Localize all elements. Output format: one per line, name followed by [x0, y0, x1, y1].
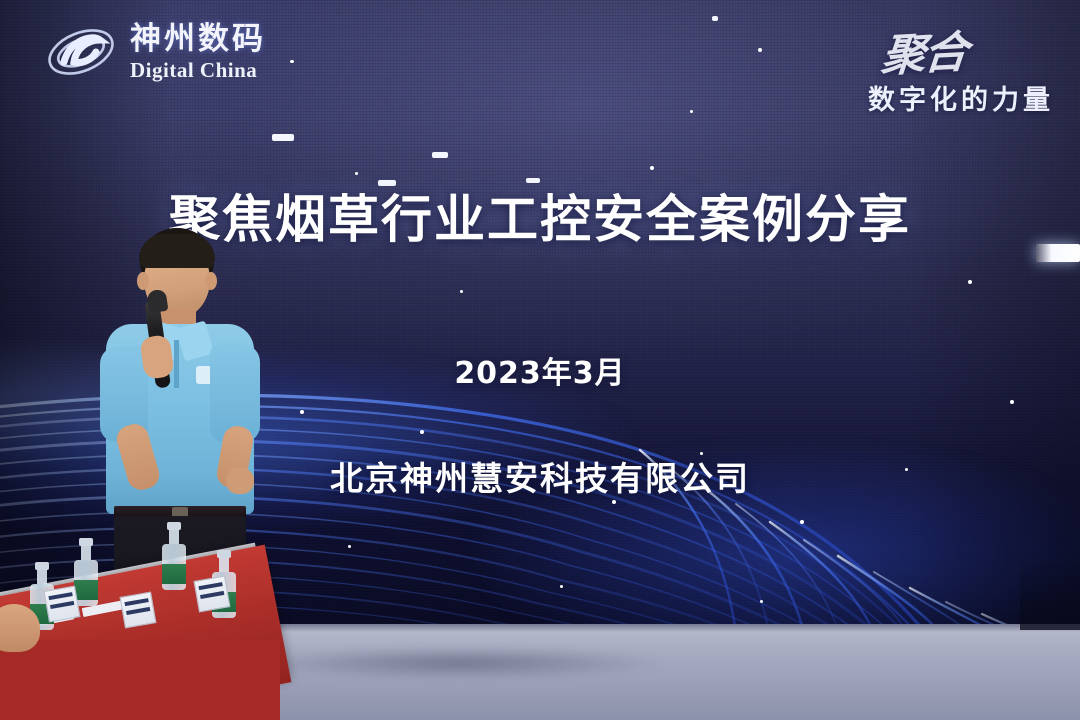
water-bottle [74, 536, 98, 606]
particle-dash [432, 152, 448, 158]
particle-dot [968, 280, 972, 284]
motto-calligraphy: 聚合 [879, 16, 969, 84]
bottle-cap [167, 522, 181, 530]
speaker-placket [174, 340, 179, 388]
particle-dot [290, 60, 294, 63]
floor-shadow [250, 646, 670, 680]
name-card [193, 575, 230, 612]
particle-dot [460, 290, 463, 293]
name-card-line [48, 592, 72, 600]
particle-dot [560, 585, 563, 588]
particle-dot [1010, 400, 1014, 404]
particle-dot [758, 48, 762, 52]
speaker-hair-front [139, 234, 215, 268]
particle-dash [712, 16, 718, 21]
name-card-line [126, 607, 150, 615]
bottle-neck [219, 558, 229, 572]
speaker-ear-right [205, 272, 217, 290]
name-card-line [50, 601, 74, 609]
conference-photo: 神州数码 Digital China 聚合 数字化的力量 聚焦烟草行业工控安全案… [0, 0, 1080, 720]
particle-dot [348, 545, 351, 548]
bottle-cap [35, 562, 49, 570]
bottle-label [162, 564, 186, 584]
particle-dot [420, 430, 424, 434]
particle-dot [800, 520, 804, 524]
speaker-ear-left [137, 272, 149, 290]
name-card-line [124, 598, 148, 606]
particle-dot [612, 500, 616, 504]
digital-china-swirl-icon [44, 22, 118, 82]
bottle-label [74, 580, 98, 600]
brand-name-en: Digital China [130, 60, 266, 81]
table-cloth-lower [0, 640, 280, 720]
name-card [43, 585, 80, 622]
particle-dot [760, 600, 763, 603]
name-card-line [198, 582, 222, 590]
bottle-neck [37, 570, 47, 584]
particle-dot [300, 410, 304, 414]
particle-dot [355, 172, 358, 175]
speaker-hand-right [226, 468, 254, 494]
bottle-cap [217, 550, 231, 558]
name-card [119, 591, 156, 628]
bottle-neck [169, 530, 179, 544]
stage-dark-gap [1020, 560, 1080, 630]
brand-name-cn: 神州数码 [130, 24, 266, 55]
bottle-neck [81, 546, 91, 560]
particle-dot [690, 110, 693, 113]
brand-text: 神州数码 Digital China [130, 24, 266, 81]
particle-dash [272, 134, 294, 141]
motto-subtitle: 数字化的力量 [868, 78, 1054, 117]
water-bottle [162, 520, 186, 590]
bottle-cap [79, 538, 93, 546]
name-card-line [200, 591, 224, 599]
event-motto: 聚合 数字化的力量 [868, 18, 1054, 117]
particle-dot [650, 166, 654, 170]
brand-logo: 神州数码 Digital China [44, 22, 266, 82]
